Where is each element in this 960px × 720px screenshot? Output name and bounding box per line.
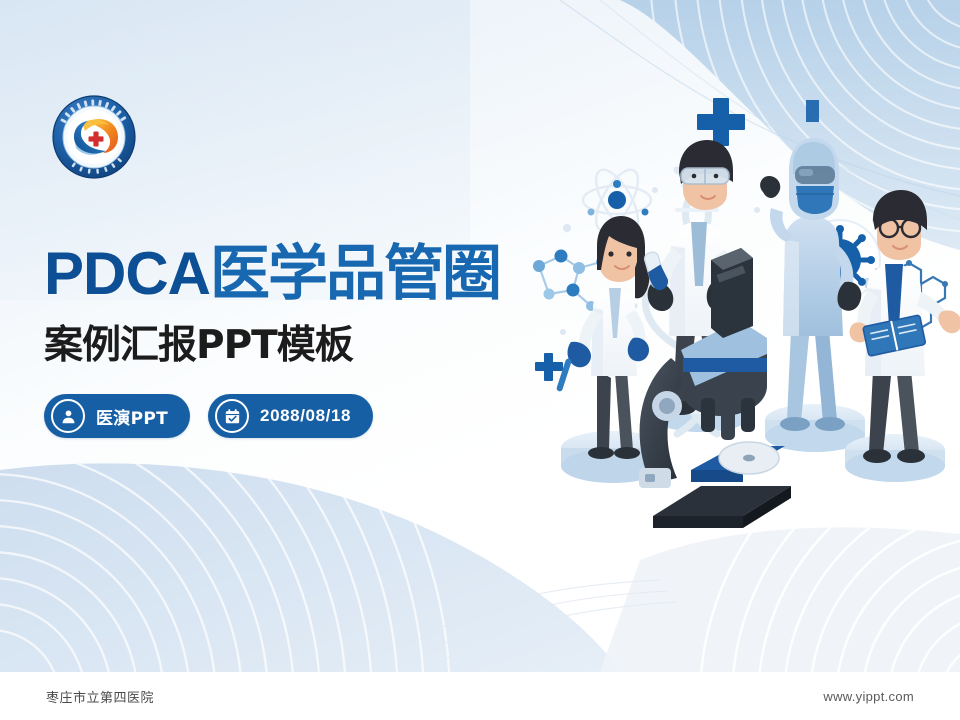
medical-cross-bottom: [535, 353, 563, 381]
hospital-logo: [42, 93, 146, 181]
meta-badges: 医演PPT 2088/08/18: [44, 394, 373, 438]
title-chinese: 医学品管圈: [210, 239, 500, 309]
female-scientist-with-pipette: [556, 216, 650, 459]
date-label: 2088/08/18: [260, 406, 351, 426]
footer-organization: 枣庄市立第四医院: [46, 687, 154, 706]
page-title: PDCA医学品管圈: [44, 243, 564, 305]
calendar-icon: [215, 399, 249, 433]
medical-team-illustration: [505, 70, 960, 540]
user-icon: [51, 399, 85, 433]
author-label: 医演PPT: [96, 404, 168, 429]
worker-in-protective-suit: [760, 138, 861, 431]
footer-website: www.yippt.com: [823, 689, 914, 704]
title-block: PDCA医学品管圈 案例汇报PPT模板: [44, 243, 564, 370]
presentation-slide: PDCA医学品管圈 案例汇报PPT模板 医演PPT: [0, 0, 960, 720]
title-pdca: PDCA: [44, 240, 210, 307]
medical-cross-large: [697, 98, 745, 146]
author-badge[interactable]: 医演PPT: [44, 394, 190, 438]
date-badge[interactable]: 2088/08/18: [208, 394, 373, 438]
page-subtitle: 案例汇报PPT模板: [44, 314, 564, 370]
footer: 枣庄市立第四医院 www.yippt.com: [0, 672, 960, 720]
